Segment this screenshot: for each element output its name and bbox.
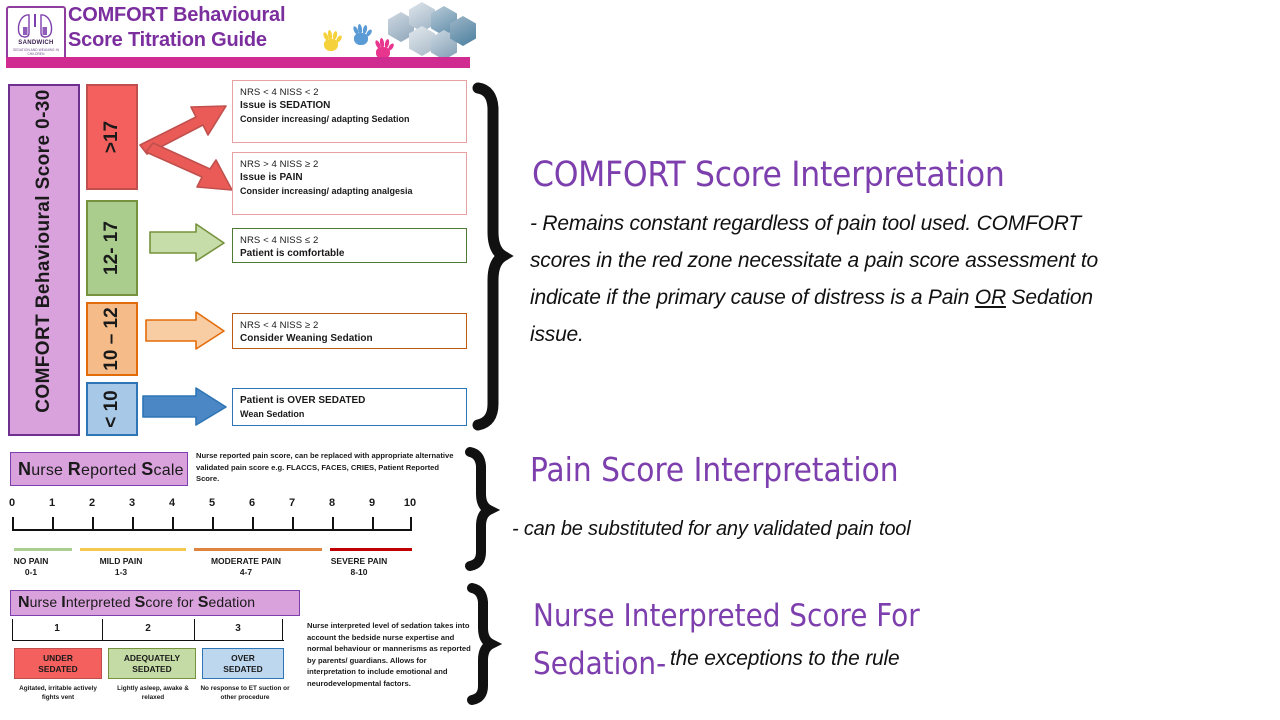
band-label-mild-pain: MILD PAIN 1-3 — [66, 556, 176, 578]
score-block-label: < 10 — [101, 390, 123, 428]
sandwich-logo: SANDWICH SEDATION AND WEANING IN CHILDRE… — [6, 6, 66, 60]
sedation-level-table: 1 2 3 — [12, 619, 284, 641]
comfort-axis-label: COMFORT Behavioural Score 0-30 — [8, 84, 80, 436]
band-range: 8-10 — [316, 567, 402, 578]
result-box-sedation: NRS < 4 NISS < 2 Issue is SEDATION Consi… — [232, 80, 467, 143]
sedation-level-number: 1 — [12, 619, 102, 641]
sedation-box-line1: OVER — [203, 653, 283, 664]
score-block-under-10: < 10 — [86, 382, 138, 436]
scale-tick-label: 1 — [49, 497, 55, 509]
comfort-body-underline: OR — [975, 286, 1006, 309]
sedation-box-line1: UNDER — [15, 653, 101, 664]
nurse-interpreted-score-description: Nurse interpreted level of sedation take… — [307, 620, 472, 690]
title-line-1: COMFORT Behavioural — [68, 4, 285, 26]
arrow-orange-right — [146, 312, 224, 349]
handprint-blue-icon — [352, 24, 374, 46]
pain-section-title: Pain Score Interpretation — [530, 450, 899, 489]
result-headline: Issue is SEDATION — [240, 99, 459, 113]
band-label-severe-pain: SEVERE PAIN 8-10 — [316, 556, 402, 578]
band-bar-severe-pain — [330, 548, 412, 551]
sedation-caption-under: Agitated, irritable actively fights vent — [10, 684, 106, 702]
score-block-12-17: 12- 17 — [86, 200, 138, 296]
arrow-green-right — [150, 224, 224, 261]
lungs-icon — [16, 13, 54, 39]
sedation-section-title: Nurse Interpreted Score For Sedation- — [533, 592, 1053, 688]
pain-band-bars — [12, 548, 412, 554]
band-name: SEVERE PAIN — [316, 556, 402, 567]
scale-tick-label: 9 — [369, 497, 375, 509]
sedation-level-number: 2 — [102, 619, 194, 641]
band-name: MILD PAIN — [66, 556, 176, 567]
handprint-yellow-icon — [322, 30, 344, 52]
logo-wordmark: SANDWICH — [8, 40, 64, 46]
page-title: COMFORT Behavioural Score Titration Guid… — [68, 3, 328, 53]
sedation-box-over-sedated: OVER SEDATED — [202, 648, 284, 679]
sedation-box-line2: SEDATED — [109, 664, 195, 675]
result-headline: Patient is comfortable — [240, 247, 459, 261]
result-action: Consider increasing/ adapting analgesia — [240, 185, 459, 198]
sedation-caption-over: No response to ET suction or other proce… — [196, 684, 294, 702]
score-block-label: 10 – 12 — [101, 307, 123, 370]
sedation-box-line2: SEDATED — [15, 664, 101, 675]
scale-axis-line — [12, 529, 412, 531]
scale-tick-label: 7 — [289, 497, 295, 509]
nurse-reported-scale-description: Nurse reported pain score, can be replac… — [196, 450, 464, 485]
scale-tick-label: 3 — [129, 497, 135, 509]
sedation-box-line2: SEDATED — [203, 664, 283, 675]
result-criteria: NRS < 4 NISS < 2 — [240, 86, 459, 99]
header-banner: SANDWICH SEDATION AND WEANING IN CHILDRE… — [0, 0, 474, 68]
band-name: MODERATE PAIN — [180, 556, 312, 567]
table-divider — [282, 619, 283, 641]
score-block-label: 12- 17 — [101, 221, 123, 275]
scale-tick-label: 6 — [249, 497, 255, 509]
pain-section-body: - can be substituted for any validated p… — [512, 518, 1152, 541]
comfort-section-title: COMFORT Score Interpretation — [532, 155, 1005, 195]
sedation-section-body: the exceptions to the rule — [670, 647, 899, 671]
scale-tick-label: 5 — [209, 497, 215, 509]
score-block-over-17: >17 — [86, 84, 138, 190]
result-box-over-sedated: Patient is OVER SEDATED Wean Sedation — [232, 388, 467, 426]
brace-pain — [470, 452, 489, 566]
result-action: Wean Sedation — [240, 408, 459, 421]
pain-scale-ruler: 0 1 2 3 4 5 6 7 8 9 10 — [12, 497, 412, 545]
sedation-box-line1: ADEQUATELY — [109, 653, 195, 664]
nurse-interpreted-score-badge: Nurse Interpreted Score for Sedation — [10, 590, 300, 616]
scale-tick-label: 0 — [9, 497, 15, 509]
score-block-10-12: 10 – 12 — [86, 302, 138, 376]
result-criteria: NRS > 4 NISS ≥ 2 — [240, 158, 459, 171]
header-accent-bar — [6, 57, 470, 68]
band-bar-moderate-pain — [194, 548, 322, 551]
arrow-red-up — [140, 106, 226, 154]
result-box-pain: NRS > 4 NISS ≥ 2 Issue is PAIN Consider … — [232, 152, 467, 215]
band-label-moderate-pain: MODERATE PAIN 4-7 — [180, 556, 312, 578]
scale-tick-label: 10 — [404, 497, 416, 509]
arrow-blue-right — [143, 388, 226, 425]
band-range: 1-3 — [66, 567, 176, 578]
result-criteria: NRS < 4 NISS ≤ 2 — [240, 234, 459, 247]
scale-tick-label: 4 — [169, 497, 175, 509]
nurse-reported-scale-badge-text: Nurse Reported Scale — [18, 459, 184, 480]
photo-collage — [388, 2, 474, 58]
band-range: 0-1 — [0, 567, 64, 578]
sedation-box-adequately-sedated: ADEQUATELY SEDATED — [108, 648, 196, 679]
band-bar-mild-pain — [80, 548, 186, 551]
band-range: 4-7 — [180, 567, 312, 578]
band-bar-no-pain — [14, 548, 72, 551]
sedation-caption-adequate: Lightly asleep, awake & relaxed — [106, 684, 200, 702]
brace-sedation — [472, 588, 491, 700]
scale-tick-label: 8 — [329, 497, 335, 509]
logo-subtitle: SEDATION AND WEANING IN CHILDREN — [8, 48, 64, 56]
result-box-comfortable: NRS < 4 NISS ≤ 2 Patient is comfortable — [232, 228, 467, 263]
arrow-red-down — [146, 143, 232, 190]
result-criteria: NRS < 4 NISS ≥ 2 — [240, 319, 459, 332]
brace-comfort — [478, 88, 503, 425]
result-headline: Consider Weaning Sedation — [240, 332, 459, 346]
score-block-label: >17 — [101, 121, 123, 153]
result-headline: Patient is OVER SEDATED — [240, 394, 459, 408]
sedation-level-number: 3 — [194, 619, 282, 641]
comfort-axis-label-text: COMFORT Behavioural Score 0-30 — [33, 77, 55, 425]
nurse-reported-scale-badge: Nurse Reported Scale — [10, 452, 188, 486]
band-name: NO PAIN — [0, 556, 64, 567]
slide-canvas: SANDWICH SEDATION AND WEANING IN CHILDRE… — [0, 0, 1280, 720]
result-headline: Issue is PAIN — [240, 171, 459, 185]
sedation-box-under-sedated: UNDER SEDATED — [14, 648, 102, 679]
band-label-no-pain: NO PAIN 0-1 — [0, 556, 64, 578]
title-line-2: Score Titration Guide — [68, 28, 328, 53]
result-action: Consider increasing/ adapting Sedation — [240, 113, 459, 126]
comfort-section-body: - Remains constant regardless of pain to… — [530, 205, 1130, 353]
result-box-weaning: NRS < 4 NISS ≥ 2 Consider Weaning Sedati… — [232, 313, 467, 349]
scale-tick-label: 2 — [89, 497, 95, 509]
nurse-interpreted-score-badge-text: Nurse Interpreted Score for Sedation — [18, 594, 255, 612]
